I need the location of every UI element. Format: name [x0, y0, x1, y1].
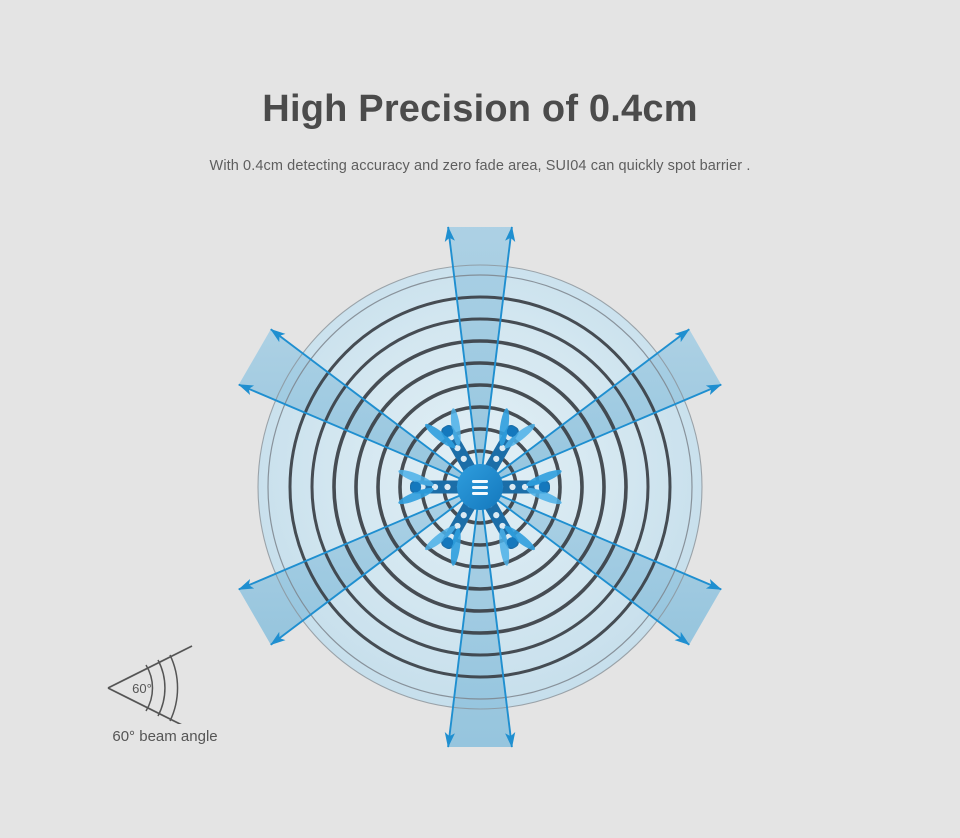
beam-angle-arc-3	[170, 655, 178, 721]
drone-hub-indicator-bar	[472, 492, 488, 495]
beam-angle-caption: 60° beam angle	[60, 728, 270, 745]
beam-angle-icon: 60°	[100, 640, 220, 724]
beam-angle-value: 60°	[132, 681, 152, 696]
drone-motor	[411, 482, 421, 492]
beam-angle-badge: 60° 60° beam angle	[60, 640, 270, 770]
page-root: High Precision of 0.4cm With 0.4cm detec…	[0, 0, 960, 838]
page-title: High Precision of 0.4cm	[0, 88, 960, 131]
drone-arm-hole	[509, 484, 515, 490]
drone-hub-indicator-bar	[472, 486, 488, 489]
page-subtitle: With 0.4cm detecting accuracy and zero f…	[0, 158, 960, 174]
drone-motor	[539, 482, 549, 492]
beam-angle-icon-wrap: 60°	[100, 640, 220, 724]
drone-arm-hole	[444, 484, 450, 490]
beam-angle-arc-2	[158, 660, 165, 716]
drone-hub-indicator-bar	[472, 480, 488, 483]
